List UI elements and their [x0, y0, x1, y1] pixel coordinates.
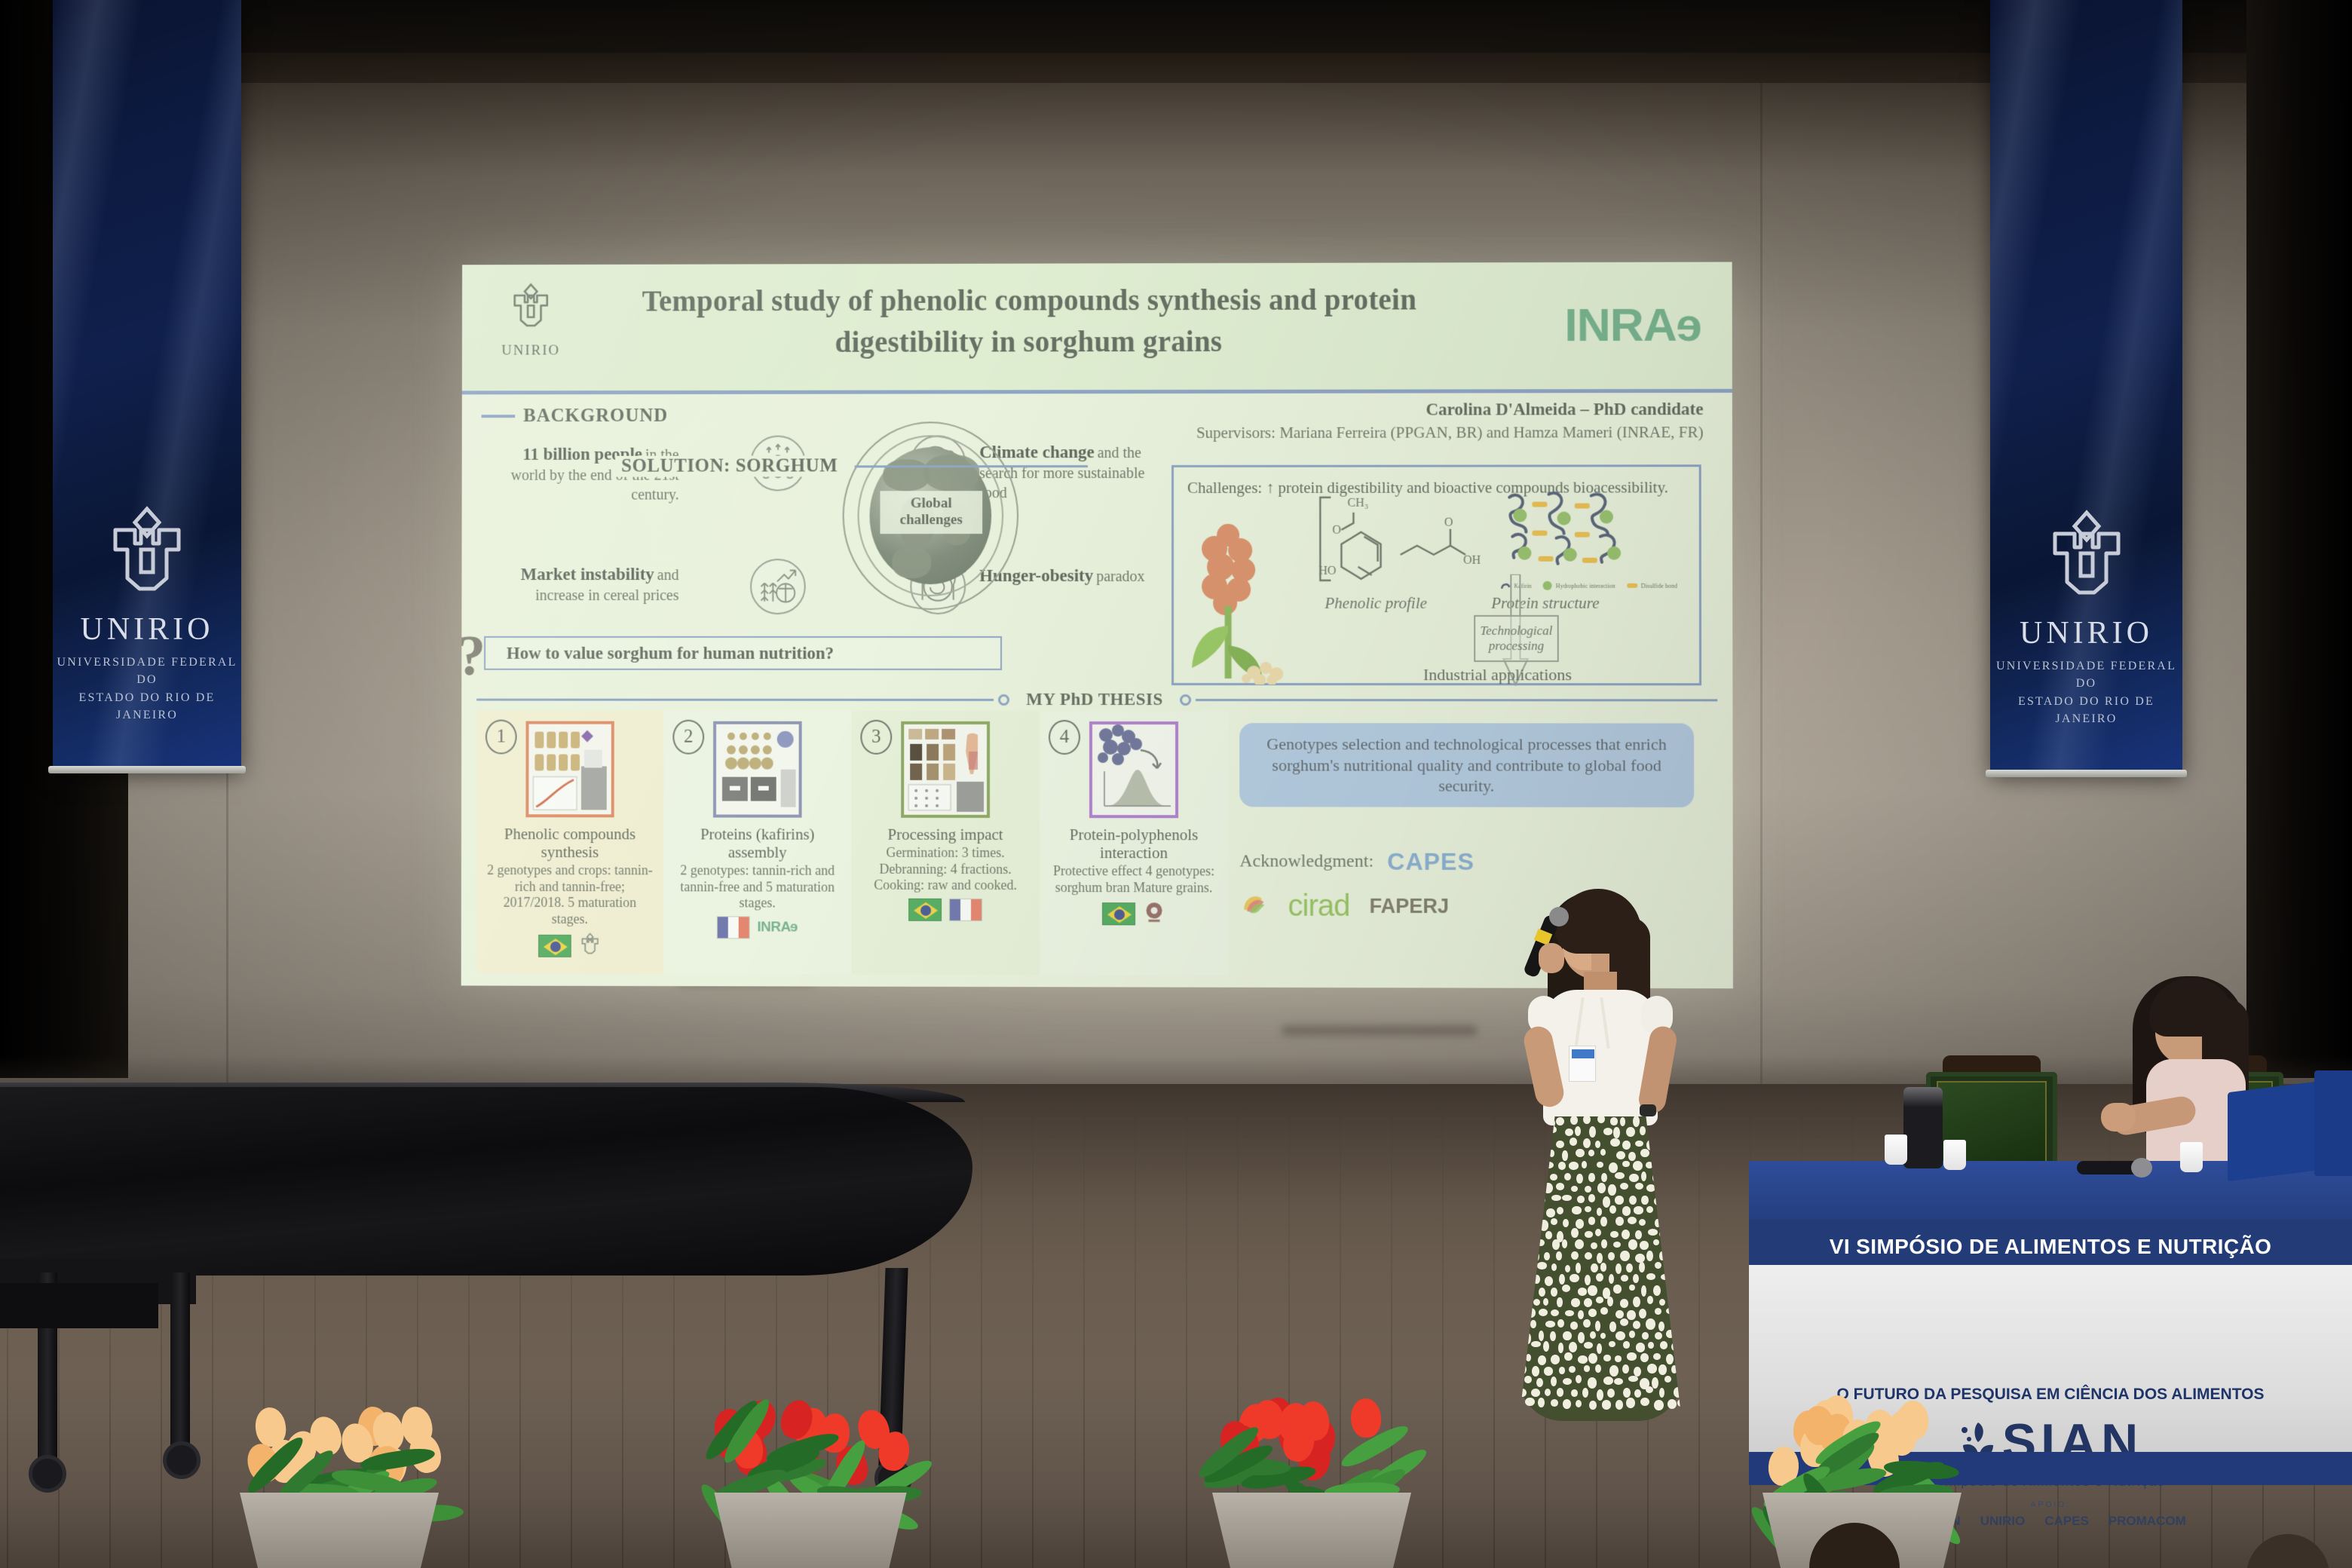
- svg-text:OH: OH: [1463, 554, 1481, 567]
- disulfide-icon: [1627, 583, 1637, 588]
- slide-authors: Carolina D'Almeida – PhD candidate Super…: [1129, 400, 1704, 443]
- card-number: 1: [485, 720, 517, 755]
- card-title: Protein-polyphenols interaction: [1047, 825, 1220, 862]
- technological-processing-box: Technological processing: [1474, 615, 1559, 662]
- divider-circle-icon: [1180, 694, 1191, 706]
- unirio-mini-logo-icon: [579, 933, 602, 960]
- global-challenges-label: Global challenges: [880, 491, 982, 534]
- card-subtitle: 2 genotypes: tannin-rich and tannin-free…: [671, 863, 844, 912]
- card-flags: INRAe: [671, 916, 844, 939]
- card-number: 3: [860, 720, 892, 755]
- svg-text:CH₃: CH₃: [1347, 497, 1368, 510]
- thesis-card: 1 Phenolic compounds synthesi: [476, 711, 664, 975]
- solution-heading: SOLUTION: SORGHUM: [615, 455, 1088, 477]
- france-flag-icon: [949, 899, 982, 921]
- thesis-card: 4 Protein-polyph: [1040, 711, 1228, 975]
- card-title: Processing impact: [859, 825, 1032, 844]
- unirio-banner-right: UNIRIO UNIVERSIDADE FEDERAL DO ESTADO DO…: [1990, 0, 2182, 773]
- presenter-speaker: [1489, 878, 1715, 1429]
- table-microphone: [2077, 1161, 2142, 1174]
- flower-planter: [701, 1402, 920, 1568]
- flower-planter: [1199, 1398, 1425, 1568]
- card-subtitle: Protective effect 4 genotypes: sorghum b…: [1047, 863, 1220, 896]
- slide-title: Temporal study of phenolic compounds syn…: [593, 279, 1466, 364]
- unirio-wordmark: UNIRIO: [53, 611, 241, 648]
- card-subtitle: Germination: 3 times. Debranning: 4 frac…: [859, 845, 1032, 894]
- inrae-mini-logo: INRAe: [757, 919, 798, 936]
- supervisors-line: Supervisors: Mariana Ferreira (PPGAN, BR…: [1129, 422, 1704, 443]
- slide-unirio-logo: UNIRIO: [486, 278, 576, 360]
- heading-rule: [854, 465, 1087, 467]
- brazil-flag-icon: [908, 899, 942, 921]
- hydrophobic-icon: [1543, 581, 1552, 590]
- slide-unirio-wordmark: UNIRIO: [486, 342, 576, 359]
- paper-cup: [2180, 1142, 2203, 1172]
- microphone-head-icon: [1549, 907, 1569, 926]
- slide-header-rule: [462, 389, 1732, 394]
- card-number: 4: [1049, 720, 1080, 755]
- card-flags: [484, 932, 657, 960]
- protein-structure-icon: [1499, 483, 1658, 581]
- auditorium-scene: UNIRIO UNIVERSIDADE FEDERAL DO ESTADO DO…: [0, 0, 2352, 1568]
- card-thumbnail: [713, 721, 802, 818]
- unirio-wordmark: UNIRIO: [1990, 615, 2182, 651]
- unirio-banner-left: UNIRIO UNIVERSIDADE FEDERAL DO ESTADO DO…: [53, 0, 241, 769]
- cirad-logo: cirad: [1288, 890, 1349, 923]
- laptop: [2314, 1070, 2352, 1176]
- banner-rail-left: [48, 766, 246, 773]
- solution-panel: Challenges: ↑ protein digestibility and …: [1171, 464, 1701, 685]
- phenolic-profile-caption: Phenolic profile: [1325, 594, 1427, 613]
- phenolic-molecule-icon: CH₃ O HO O OH: [1308, 490, 1482, 603]
- global-challenges-diagram: Global challenges: [837, 421, 1025, 610]
- presenter-skirt: [1519, 1116, 1682, 1421]
- card-number: 2: [672, 720, 704, 755]
- thesis-card: 2 Proteins (kafirins) assembly 2 genotyp…: [663, 711, 851, 975]
- card-thumbnail: [1089, 721, 1178, 818]
- unicamp-mini-logo-icon: [1143, 901, 1165, 927]
- card-title: Phenolic compounds synthesis: [484, 825, 657, 861]
- card-flags: [1047, 901, 1220, 927]
- card-subtitle: 2 genotypes and crops: tannin-rich and t…: [484, 862, 657, 928]
- inrae-logo: INRAe: [1564, 299, 1701, 352]
- industrial-applications-label: Industrial applications: [1423, 665, 1572, 684]
- sponsor-promacom: PROMACOM: [2109, 1514, 2186, 1529]
- unirio-logo-icon: [53, 504, 241, 602]
- banner-rail-right: [1986, 770, 2187, 777]
- brazil-flag-icon: [538, 935, 571, 957]
- unirio-subtitle: UNIVERSIDADE FEDERAL DO ESTADO DO RIO DE…: [1990, 657, 2182, 727]
- background-heading: BACKGROUND: [482, 406, 669, 427]
- card-thumbnail: [901, 721, 990, 818]
- france-flag-icon: [717, 916, 750, 939]
- flower-planter: [226, 1398, 452, 1568]
- paper-cup: [1943, 1140, 1966, 1170]
- card-title: Proteins (kafirins) assembly: [671, 825, 844, 862]
- cereal-price-icon: [750, 559, 806, 614]
- sorghum-plant-illustration: [1181, 513, 1302, 684]
- svg-text:HO: HO: [1318, 565, 1336, 577]
- symposium-title: VI SIMPÓSIO DE ALIMENTOS E NUTRIÇÃO: [1749, 1235, 2352, 1259]
- research-question: How to value sorghum for human nutrition…: [484, 636, 1002, 670]
- cirad-leaf-icon: [1239, 892, 1268, 921]
- heading-dash-icon: [482, 415, 516, 418]
- thesis-card: 3: [851, 711, 1040, 975]
- faperj-logo: FAPERJ: [1369, 895, 1449, 918]
- thesis-divider: MY PhD THESIS: [476, 690, 1717, 710]
- thesis-cards: 1 Phenolic compounds synthesi: [476, 711, 1229, 975]
- paper-cup: [1885, 1135, 1907, 1165]
- tumbler: [1903, 1087, 1943, 1168]
- divider-circle-icon: [998, 694, 1009, 705]
- unirio-subtitle: UNIVERSIDADE FEDERAL DO ESTADO DO RIO DE…: [53, 654, 241, 724]
- svg-text:O: O: [1332, 524, 1341, 537]
- question-mark-icon: ?: [461, 623, 485, 689]
- card-flags: [859, 899, 1032, 921]
- card-thumbnail: [525, 721, 614, 818]
- sponsor-capes: CAPES: [2044, 1514, 2089, 1529]
- sponsor-unirio: UNIRIO: [1980, 1514, 2026, 1529]
- thesis-divider-label: MY PhD THESIS: [1014, 690, 1175, 709]
- unirio-logo-icon: [1990, 508, 2182, 606]
- acknowledgment-label: Acknowledgment:: [1239, 851, 1374, 871]
- conclusion-box: Genotypes selection and technological pr…: [1239, 723, 1694, 807]
- background-item-market: Market instability and increase in cerea…: [484, 563, 678, 605]
- brazil-flag-icon: [1102, 902, 1135, 925]
- capes-logo: CAPES: [1387, 848, 1475, 876]
- author-name: Carolina D'Almeida – PhD candidate: [1129, 400, 1704, 420]
- svg-text:O: O: [1444, 516, 1453, 529]
- presenter-name-badge: [1569, 1046, 1596, 1082]
